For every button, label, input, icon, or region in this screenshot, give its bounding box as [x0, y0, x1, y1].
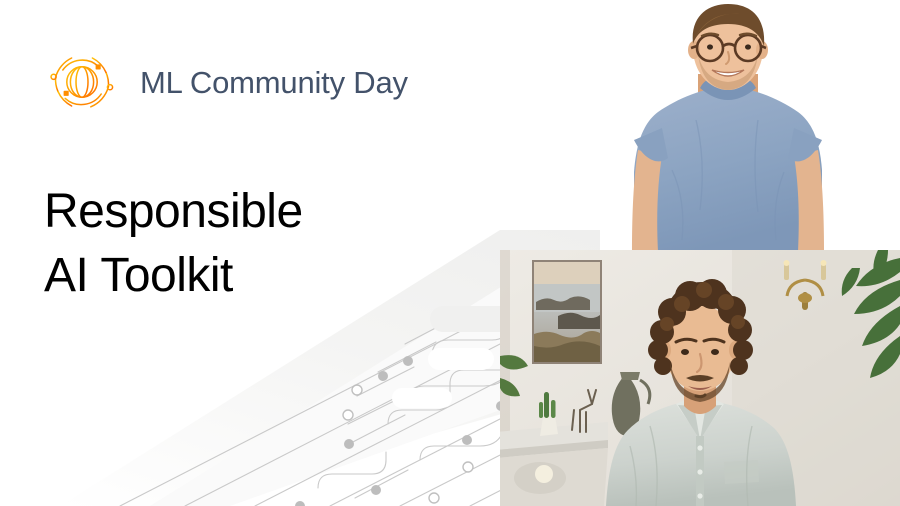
- brand-title: ML Community Day: [140, 67, 408, 98]
- mantel-shelf: [500, 422, 608, 506]
- page-title-line-2: AI Toolkit: [44, 244, 474, 307]
- wall-painting: [532, 260, 602, 364]
- globe-orbit-icon: [42, 42, 122, 122]
- presenter-cutout-photo: [600, 0, 900, 252]
- page-title-line-1: Responsible: [44, 180, 474, 243]
- slide-canvas: ML Community Day Responsible AI Toolkit: [0, 0, 900, 506]
- page-title: Responsible AI Toolkit: [44, 180, 474, 307]
- webcam-video-tile[interactable]: [500, 250, 900, 506]
- brand-lockup: ML Community Day: [42, 42, 408, 122]
